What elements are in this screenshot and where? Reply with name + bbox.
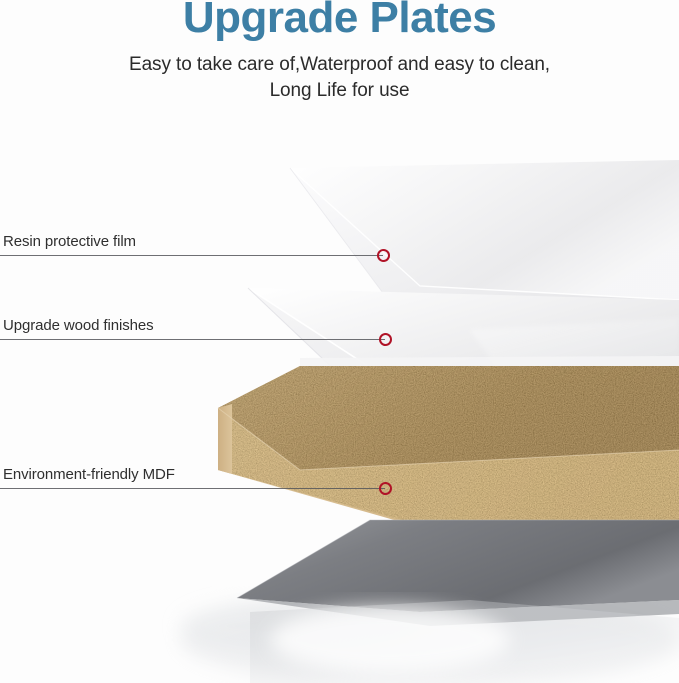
leader-line xyxy=(0,339,385,340)
callout-label: Environment-friendly MDF xyxy=(3,466,175,483)
callout-label: Resin protective film xyxy=(3,233,136,250)
subtitle-line-1: Easy to take care of,Waterproof and easy… xyxy=(129,54,550,75)
callout-marker-icon xyxy=(379,333,392,346)
leader-line xyxy=(0,488,385,489)
callout-marker-icon xyxy=(379,482,392,495)
leader-line xyxy=(0,255,383,256)
subtitle-line-2: Long Life for use xyxy=(0,78,679,104)
page-title: Upgrade Plates xyxy=(0,0,679,40)
product-feature-banner: Upgrade Plates Easy to take care of,Wate… xyxy=(0,0,679,683)
callout-marker-icon xyxy=(377,249,390,262)
callout-label: Upgrade wood finishes xyxy=(3,317,154,334)
page-subtitle: Easy to take care of,Waterproof and easy… xyxy=(0,52,679,104)
